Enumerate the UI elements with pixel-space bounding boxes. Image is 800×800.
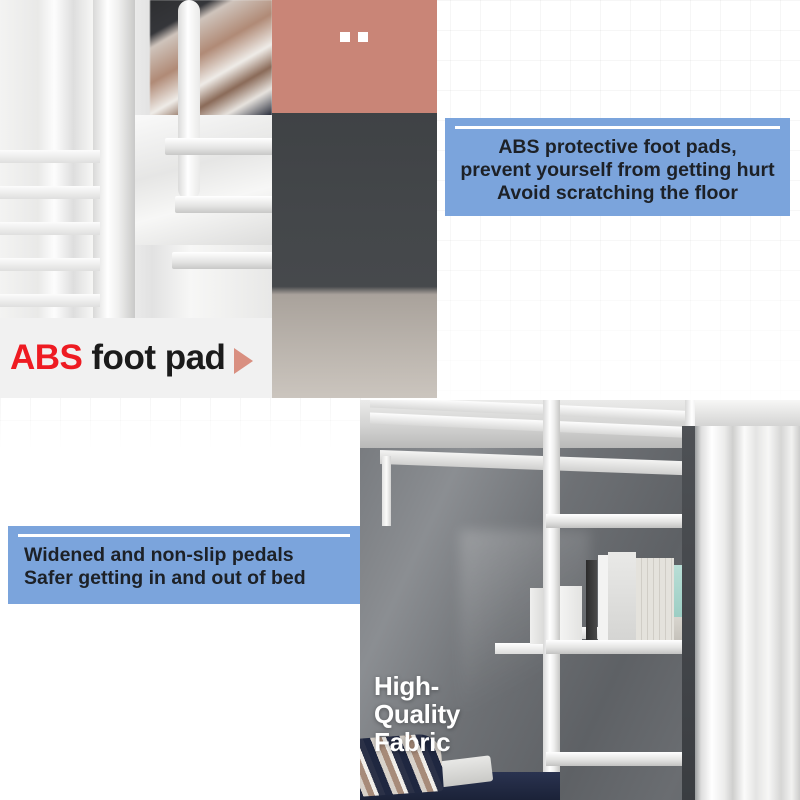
white-bed-post-moulding bbox=[695, 400, 800, 800]
fabric-label-line: Fabric bbox=[374, 728, 460, 756]
callout-line: Avoid scratching the floor bbox=[453, 182, 782, 205]
book bbox=[586, 560, 597, 644]
infographic-page: ABS foot pad ABS protective foot pads, p… bbox=[0, 0, 800, 800]
graph-paper-texture-lower bbox=[0, 390, 365, 450]
callout-divider bbox=[455, 126, 780, 129]
callout-line: Safer getting in and out of bed bbox=[16, 567, 352, 590]
headboard-slat bbox=[0, 222, 100, 235]
callout-line: prevent yourself from getting hurt bbox=[453, 159, 782, 182]
ladder-rung bbox=[546, 752, 688, 766]
accent-square bbox=[358, 32, 368, 42]
callout-line: ABS protective foot pads, bbox=[453, 136, 782, 159]
headboard-slat bbox=[0, 258, 100, 271]
headboard-slat bbox=[0, 294, 100, 307]
abs-foot-pad-badge: ABS foot pad bbox=[0, 318, 272, 398]
book bbox=[598, 555, 608, 644]
salmon-accent-block bbox=[272, 0, 437, 113]
frame-rail bbox=[175, 196, 273, 213]
ladder-rail-left bbox=[543, 400, 560, 800]
ladder-rung bbox=[546, 514, 688, 528]
abs-badge-highlight: ABS bbox=[10, 338, 82, 378]
frame-rail bbox=[172, 252, 273, 269]
callout-line: Widened and non-slip pedals bbox=[16, 544, 352, 567]
accent-square bbox=[340, 32, 350, 42]
non-slip-pedals-callout: Widened and non-slip pedals Safer gettin… bbox=[8, 526, 360, 604]
mattress-sheet bbox=[130, 115, 275, 245]
headboard-slat bbox=[0, 186, 100, 199]
ladder-rung bbox=[546, 640, 688, 654]
frame-rail bbox=[165, 138, 273, 155]
vertical-rail bbox=[382, 456, 391, 526]
wall-shadow-gap bbox=[682, 426, 696, 800]
guard-rail-tube bbox=[178, 0, 200, 200]
abs-badge-text: foot pad bbox=[91, 338, 225, 378]
abs-foot-pad-callout: ABS protective foot pads, prevent yourse… bbox=[445, 118, 790, 216]
high-quality-fabric-label: High- Quality Fabric bbox=[374, 672, 460, 756]
callout-divider bbox=[18, 534, 350, 537]
fabric-label-line: High- bbox=[374, 672, 460, 700]
book bbox=[636, 558, 674, 644]
book bbox=[608, 552, 636, 644]
post-cap bbox=[695, 400, 800, 426]
triangle-right-icon bbox=[234, 348, 253, 374]
headboard-slat bbox=[0, 150, 100, 163]
fabric-label-line: Quality bbox=[374, 700, 460, 728]
